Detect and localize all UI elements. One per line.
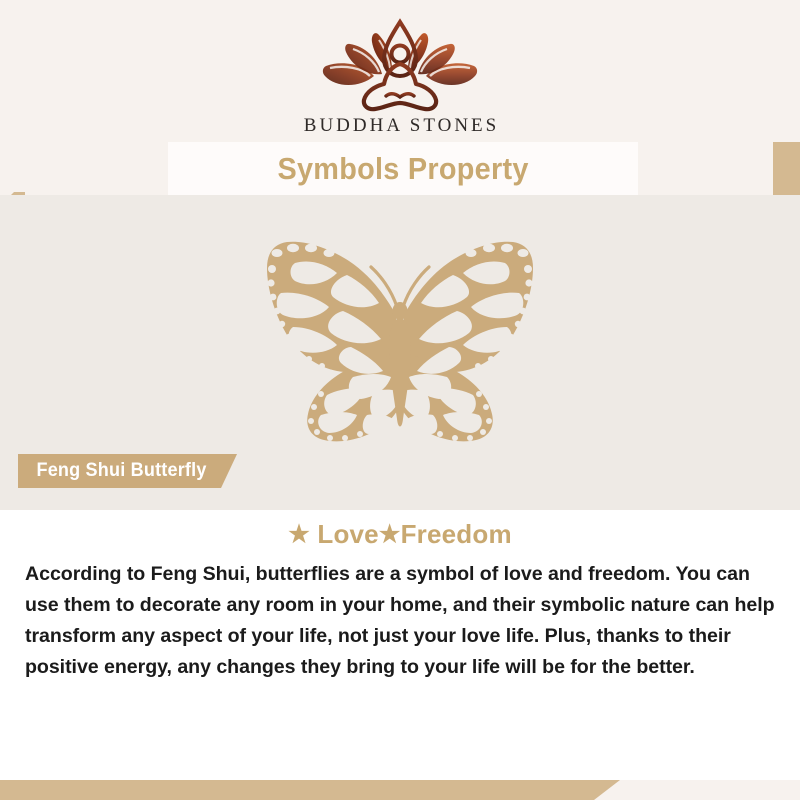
tagline-word-two: Freedom bbox=[401, 519, 512, 549]
description-section: ★ Love★Freedom According to Feng Shui, b… bbox=[0, 510, 800, 780]
status-badge: Feng Shui Butterfly bbox=[18, 454, 237, 488]
tagline: ★ Love★Freedom bbox=[0, 510, 800, 550]
brand-name: BUDDHA STONES bbox=[0, 115, 800, 137]
star-icon-left: ★ bbox=[288, 521, 310, 548]
promo-page: BUDDHA STONES Symbols Property bbox=[0, 0, 800, 800]
tagline-word-one: Love bbox=[310, 519, 379, 549]
showcase-graphic bbox=[0, 223, 800, 453]
brand-logo: BUDDHA STONES bbox=[0, 18, 800, 137]
lotus-meditation-icon bbox=[312, 18, 488, 113]
brand-header: BUDDHA STONES bbox=[0, 0, 800, 142]
page-title-band: Symbols Property bbox=[168, 142, 638, 195]
frame-bottom-band bbox=[0, 780, 620, 800]
badge-label: Feng Shui Butterfly bbox=[36, 460, 206, 482]
star-icon-mid: ★ bbox=[379, 521, 401, 548]
butterfly-icon bbox=[225, 223, 575, 448]
description-paragraph: According to Feng Shui, butterflies are … bbox=[0, 550, 800, 683]
page-title: Symbols Property bbox=[277, 151, 528, 187]
